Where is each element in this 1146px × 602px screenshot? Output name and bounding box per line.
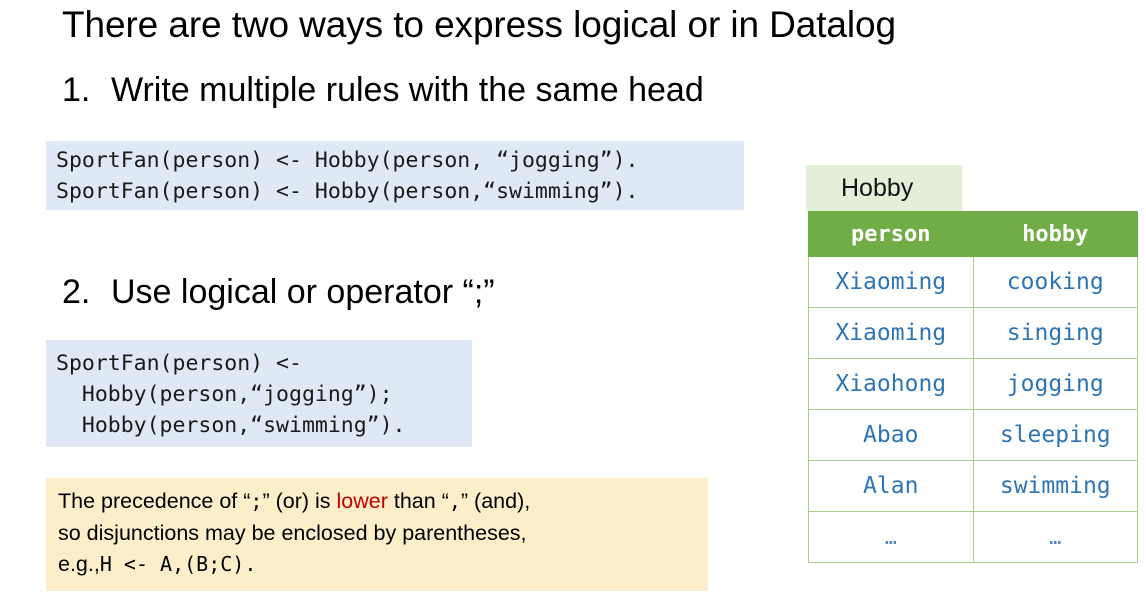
note-line-1-mid: ” (or) is xyxy=(262,489,336,513)
or-operator-code-block: SportFan(person) <- Hobby(person,“joggin… xyxy=(46,340,472,447)
table-header-row: person hobby xyxy=(809,212,1138,257)
cell-person: Abao xyxy=(809,410,974,461)
table-row: Xiaohong jogging xyxy=(809,359,1138,410)
table-caption-hobby: Hobby xyxy=(806,165,962,211)
cell-hobby: cooking xyxy=(973,257,1138,308)
note-line-1: The precedence of “;” (or) is lower than… xyxy=(58,486,708,518)
step-2-number: 2. xyxy=(62,270,111,314)
table-row: Xiaoming singing xyxy=(809,308,1138,359)
cell-person: Xiaoming xyxy=(809,257,974,308)
table-row-ellipsis: … … xyxy=(809,512,1138,563)
note-line-2: so disjunctions may be enclosed by paren… xyxy=(58,518,708,550)
step-1-number: 1. xyxy=(62,68,111,112)
step-2-label: Use logical or operator “;” xyxy=(111,270,495,314)
table-row: Xiaoming cooking xyxy=(809,257,1138,308)
note-line-3-prefix: e.g., xyxy=(58,552,100,576)
note-line-1-suffix: ” (and), xyxy=(461,489,530,513)
step-1-label: Write multiple rules with the same head xyxy=(111,68,704,112)
precedence-note-box: The precedence of “;” (or) is lower than… xyxy=(46,478,708,591)
list-item-step-1: 1. Write multiple rules with the same he… xyxy=(62,68,704,112)
table-row: Abao sleeping xyxy=(809,410,1138,461)
list-item-step-2: 2. Use logical or operator “;” xyxy=(62,270,495,314)
page-title: There are two ways to express logical or… xyxy=(62,2,896,48)
semicolon-token: ; xyxy=(250,489,262,513)
column-header-hobby: hobby xyxy=(973,212,1138,257)
note-line-1-mid2: than “ xyxy=(388,489,449,513)
note-line-3: e.g.,H <- A,(B;C). xyxy=(58,549,708,581)
note-emphasis-lower: lower xyxy=(337,489,388,513)
cell-hobby: sleeping xyxy=(973,410,1138,461)
comma-token: , xyxy=(449,489,461,513)
cell-person: … xyxy=(809,512,974,563)
table-row: Alan swimming xyxy=(809,461,1138,512)
cell-hobby: … xyxy=(973,512,1138,563)
cell-hobby: swimming xyxy=(973,461,1138,512)
cell-person: Xiaohong xyxy=(809,359,974,410)
cell-person: Xiaoming xyxy=(809,308,974,359)
slide-canvas: There are two ways to express logical or… xyxy=(0,0,1146,602)
hobby-table: person hobby Xiaoming cooking Xiaoming s… xyxy=(808,211,1138,563)
column-header-person: person xyxy=(809,212,974,257)
multiple-rules-code-block: SportFan(person) <- Hobby(person, “joggi… xyxy=(46,141,744,210)
cell-person: Alan xyxy=(809,461,974,512)
cell-hobby: singing xyxy=(973,308,1138,359)
note-line-1-prefix: The precedence of “ xyxy=(58,489,250,513)
cell-hobby: jogging xyxy=(973,359,1138,410)
note-line-3-code: H <- A,(B;C). xyxy=(100,552,257,576)
